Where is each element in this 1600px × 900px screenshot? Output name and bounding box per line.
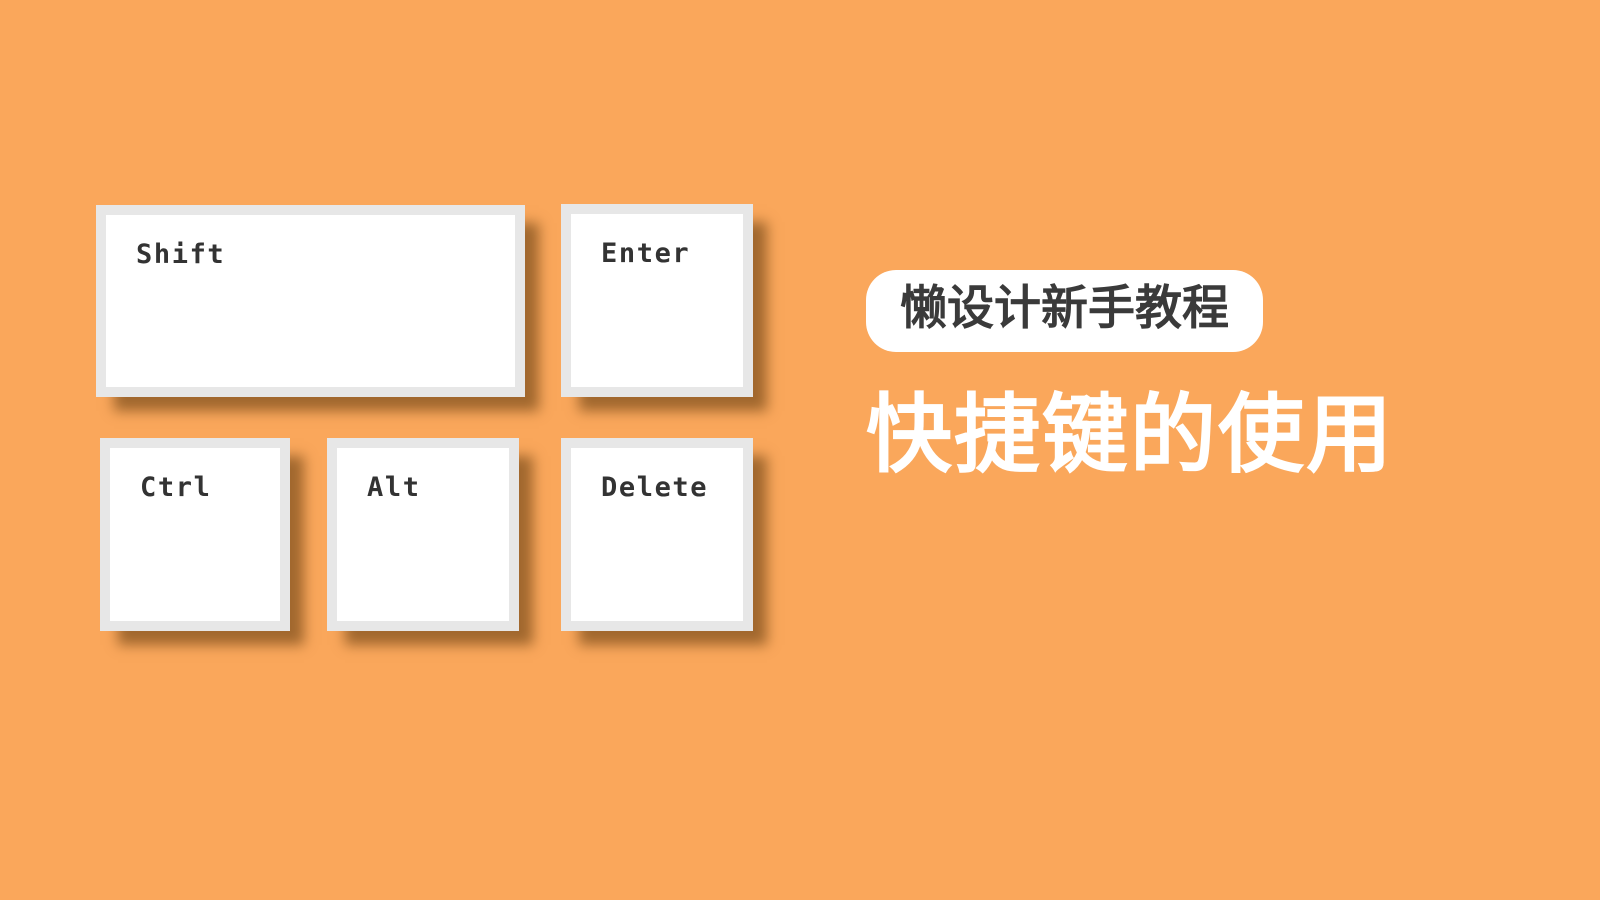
page-title: 快捷键的使用 xyxy=(866,390,1506,480)
tutorial-badge: 懒设计新手教程 xyxy=(866,270,1263,352)
key-shift[interactable]: Shift xyxy=(96,205,525,397)
key-delete-label: Delete xyxy=(601,474,743,501)
key-enter-face: Enter xyxy=(571,214,743,387)
poster-canvas: Shift Enter Ctrl Alt Delete 懒设计新手教程 xyxy=(0,0,1600,900)
key-ctrl-face: Ctrl xyxy=(110,448,280,621)
key-alt-face: Alt xyxy=(337,448,509,621)
key-enter-label: Enter xyxy=(601,240,743,267)
key-ctrl-label: Ctrl xyxy=(140,474,280,501)
key-enter[interactable]: Enter xyxy=(561,204,753,397)
poster-text-block: 懒设计新手教程 快捷键的使用 xyxy=(866,270,1506,480)
key-alt[interactable]: Alt xyxy=(327,438,519,631)
key-shift-label: Shift xyxy=(136,241,515,268)
key-ctrl[interactable]: Ctrl xyxy=(100,438,290,631)
key-alt-label: Alt xyxy=(367,474,509,501)
tutorial-badge-label: 懒设计新手教程 xyxy=(900,283,1229,335)
key-shift-face: Shift xyxy=(106,215,515,387)
key-delete[interactable]: Delete xyxy=(561,438,753,631)
key-delete-face: Delete xyxy=(571,448,743,621)
